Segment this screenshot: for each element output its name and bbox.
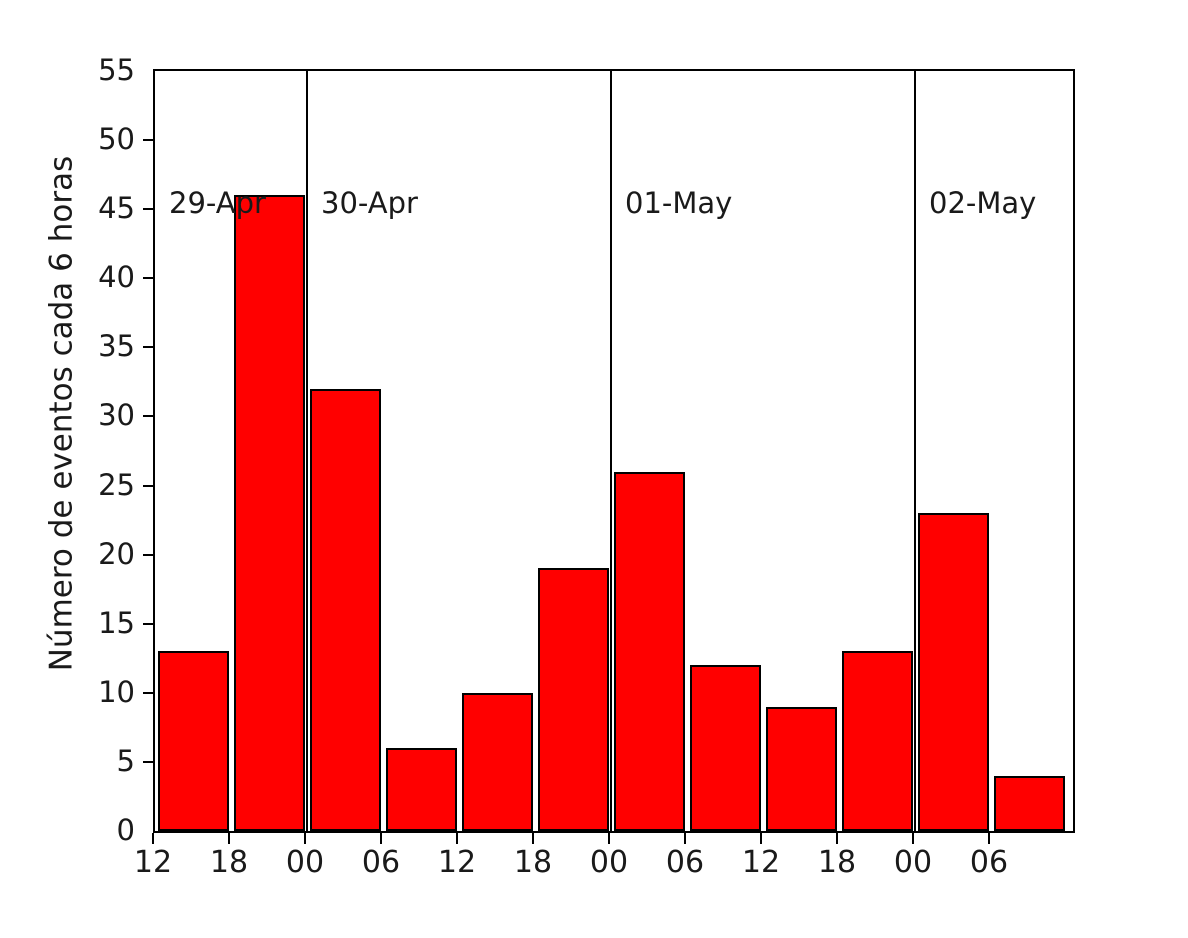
y-tick-label: 40 (40, 263, 135, 292)
x-tick-label: 18 (514, 848, 552, 878)
bar (842, 651, 913, 831)
y-tick-label: 45 (40, 194, 135, 223)
x-tick-mark (836, 833, 838, 844)
day-label: 30-Apr (321, 189, 418, 218)
y-tick-label: 55 (40, 56, 135, 85)
x-tick-mark (456, 833, 458, 844)
x-tick-label: 00 (590, 848, 628, 878)
y-tick-label: 50 (40, 125, 135, 154)
x-tick-mark (228, 833, 230, 844)
bar (690, 665, 761, 831)
bar (158, 651, 229, 831)
plot-area: 29-Apr30-Apr01-May02-May (153, 69, 1075, 833)
x-tick-label: 12 (134, 848, 172, 878)
bar (310, 389, 381, 831)
x-tick-mark (608, 833, 610, 844)
bar (614, 472, 685, 831)
day-separator-line (610, 71, 612, 831)
x-tick-mark (532, 833, 534, 844)
bar (766, 707, 837, 831)
y-tick-label: 15 (40, 609, 135, 638)
x-tick-label: 06 (666, 848, 704, 878)
x-tick-mark (912, 833, 914, 844)
day-label: 01-May (625, 189, 732, 218)
y-tick-label: 5 (40, 747, 135, 776)
day-separator-line (914, 71, 916, 831)
x-tick-mark (380, 833, 382, 844)
x-tick-label: 12 (438, 848, 476, 878)
x-tick-mark (684, 833, 686, 844)
day-label: 02-May (929, 189, 1036, 218)
x-tick-label: 00 (894, 848, 932, 878)
y-tick-label: 10 (40, 678, 135, 707)
bar (462, 693, 533, 831)
bar-chart-figure: Número de eventos cada 6 horas 555045403… (0, 0, 1188, 938)
bar (386, 748, 457, 831)
x-tick-label: 00 (286, 848, 324, 878)
y-tick-label: 35 (40, 332, 135, 361)
day-label: 29-Apr (169, 189, 266, 218)
x-tick-mark (760, 833, 762, 844)
bars-layer (155, 71, 1073, 831)
bar (918, 513, 989, 831)
x-tick-mark (304, 833, 306, 844)
bar (994, 776, 1065, 831)
x-tick-label: 06 (362, 848, 400, 878)
x-tick-label: 12 (742, 848, 780, 878)
bar (234, 195, 305, 831)
y-tick-label: 0 (40, 816, 135, 845)
x-tick-mark (152, 833, 154, 844)
x-tick-mark (988, 833, 990, 844)
day-separator-line (306, 71, 308, 831)
y-tick-label: 20 (40, 540, 135, 569)
x-tick-label: 18 (210, 848, 248, 878)
bar (538, 568, 609, 831)
x-tick-label: 18 (818, 848, 856, 878)
x-tick-label: 06 (970, 848, 1008, 878)
y-tick-label: 25 (40, 471, 135, 500)
y-tick-label: 30 (40, 401, 135, 430)
